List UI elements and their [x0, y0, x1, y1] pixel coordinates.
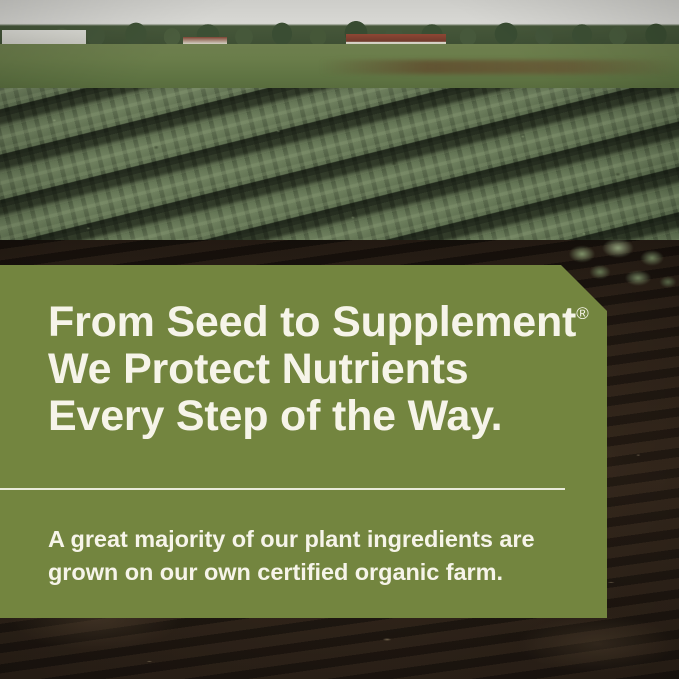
headline-line-3: Every Step of the Way. — [48, 392, 502, 440]
divider — [0, 488, 565, 490]
marketing-image: From Seed to Supplement® We Protect Nutr… — [0, 0, 679, 679]
subcopy: A great majority of our plant ingredient… — [48, 523, 583, 589]
headline: From Seed to Supplement® We Protect Nutr… — [48, 290, 593, 440]
headline-line-2: We Protect Nutrients — [48, 345, 469, 393]
panel-content: From Seed to Supplement® We Protect Nutr… — [0, 265, 607, 618]
green-text-panel: From Seed to Supplement® We Protect Nutr… — [0, 265, 607, 618]
headline-line-1: From Seed to Supplement — [48, 298, 576, 346]
treeline — [0, 10, 679, 48]
dirt-track — [320, 60, 679, 74]
registered-trademark-icon: ® — [576, 304, 589, 323]
